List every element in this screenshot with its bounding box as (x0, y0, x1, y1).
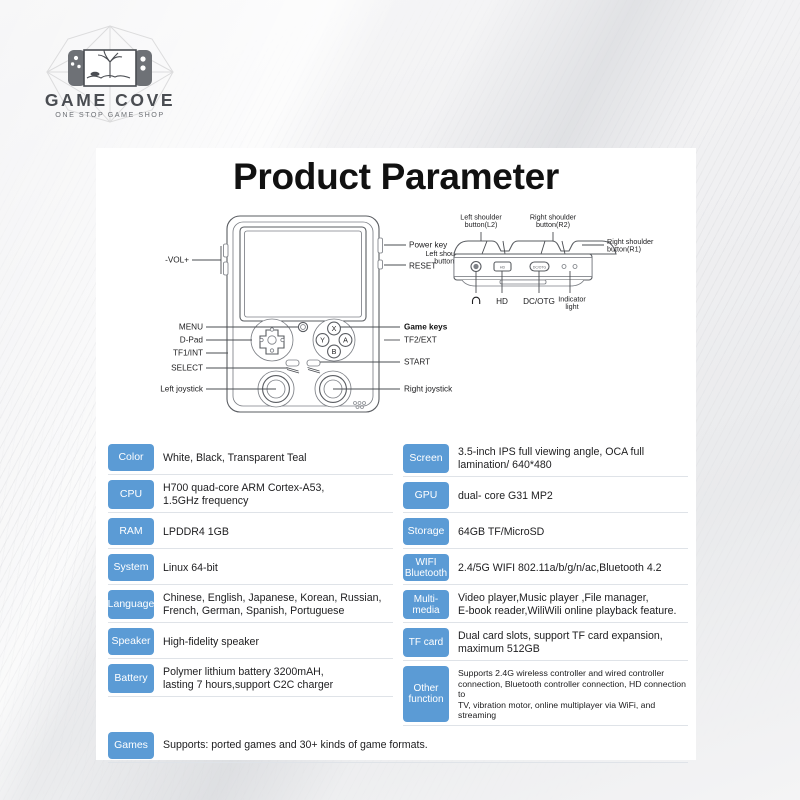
label-dcotg: DC/OTG (523, 297, 555, 306)
spec-value: Supports 2.4G wireless controller and wi… (449, 666, 688, 725)
label-volume: -VOL+ (165, 256, 189, 265)
label-menu: MENU (179, 323, 203, 332)
label-reset: RESET (409, 261, 436, 270)
label-dpad: D-Pad (180, 336, 204, 345)
spec-table: Color White, Black, Transparent Teal CPU… (108, 444, 688, 763)
spec-row: GPU dual- core G31 MP2 (403, 482, 688, 513)
face-button-a: A (343, 336, 348, 345)
label-left-joystick: Left joystick (160, 385, 204, 394)
spec-value: Polymer lithium battery 3200mAH, lasting… (154, 664, 393, 696)
spec-value: 64GB TF/MicroSD (449, 518, 688, 548)
spec-label-chip: CPU (108, 480, 154, 509)
spec-row: RAM LPDDR4 1GB (108, 518, 393, 549)
device-front-view: X Y A B (224, 216, 383, 412)
spec-row: WIFI Bluetooth 2.4/5G WIFI 802.11a/b/g/n… (403, 554, 688, 585)
spec-label-chip: Games (108, 732, 154, 759)
spec-row: Language Chinese, English, Japanese, Kor… (108, 590, 393, 623)
spec-row-games: Games Supports: ported games and 30+ kin… (108, 732, 688, 763)
spec-row: Battery Polymer lithium battery 3200mAH,… (108, 664, 393, 697)
label-l2-line2: button(L2) (465, 220, 498, 229)
port-glyph-dcotg: DC/OTG (533, 266, 547, 270)
spec-column-right: Screen 3.5-inch IPS full viewing angle, … (403, 444, 688, 731)
label-tf2: TF2/EXT (404, 336, 437, 345)
face-button-y: Y (320, 336, 325, 345)
label-hd: HD (496, 297, 508, 306)
label-start: START (404, 358, 430, 367)
spec-value: Video player,Music player ,File manager,… (449, 590, 688, 622)
port-glyph-hd: HD (500, 266, 506, 270)
spec-label-chip: Storage (403, 518, 449, 545)
spec-row: Screen 3.5-inch IPS full viewing angle, … (403, 444, 688, 477)
spec-label-chip: Battery (108, 664, 154, 693)
spec-value: Linux 64-bit (154, 554, 393, 584)
spec-label-chip: Multi- media (403, 590, 449, 619)
brand-logo: GAME COVE ONE STOP GAME SHOP (26, 22, 194, 128)
spec-value: Supports: ported games and 30+ kinds of … (154, 732, 688, 762)
page-title: Product Parameter (96, 156, 696, 198)
spec-value: LPDDR4 1GB (154, 518, 393, 548)
face-button-x: X (332, 324, 337, 333)
spec-label-chip: Screen (403, 444, 449, 473)
logo-brand-text: GAME COVE (45, 90, 175, 110)
spec-row: Color White, Black, Transparent Teal (108, 444, 393, 475)
spec-label-chip: System (108, 554, 154, 581)
spec-value: dual- core G31 MP2 (449, 482, 688, 512)
console-icon (68, 50, 152, 86)
face-button-b: B (332, 347, 337, 356)
spec-label-chip: Color (108, 444, 154, 471)
spec-row: System Linux 64-bit (108, 554, 393, 585)
spec-row: Storage 64GB TF/MicroSD (403, 518, 688, 549)
spec-row: Other function Supports 2.4G wireless co… (403, 666, 688, 726)
label-right-joystick: Right joystick (404, 385, 453, 394)
device-diagram: .ln{stroke:#4a4d52;stroke-width:.9;fill:… (96, 210, 696, 438)
spec-value: 2.4/5G WIFI 802.11a/b/g/n/ac,Bluetooth 4… (449, 554, 688, 584)
spec-label-chip: RAM (108, 518, 154, 545)
product-parameter-card: Product Parameter .ln{stroke:#4a4d52;str… (96, 148, 696, 760)
spec-row: Multi- media Video player,Music player ,… (403, 590, 688, 623)
label-r2-line2: button(R2) (536, 220, 570, 229)
label-r1-line2: button(R1) (607, 245, 641, 254)
spec-value: Chinese, English, Japanese, Korean, Russ… (154, 590, 393, 622)
label-select: SELECT (171, 364, 203, 373)
spec-row: TF card Dual card slots, support TF card… (403, 628, 688, 661)
spec-column-left: Color White, Black, Transparent Teal CPU… (108, 444, 393, 731)
spec-value: 3.5-inch IPS full viewing angle, OCA ful… (449, 444, 688, 476)
spec-row: CPU H700 quad-core ARM Cortex-A53, 1.5GH… (108, 480, 393, 513)
spec-label-chip: Speaker (108, 628, 154, 655)
spec-value: H700 quad-core ARM Cortex-A53, 1.5GHz fr… (154, 480, 393, 512)
spec-label-chip: Language (108, 590, 154, 619)
spec-value: White, Black, Transparent Teal (154, 444, 393, 474)
label-tf1: TF1/INT (173, 349, 203, 358)
spec-label-chip: Other function (403, 666, 449, 722)
spec-label-chip: WIFI Bluetooth (403, 554, 449, 581)
spec-row: Speaker High-fidelity speaker (108, 628, 393, 659)
spec-label-chip: TF card (403, 628, 449, 657)
spec-value: High-fidelity speaker (154, 628, 393, 658)
headphone-jack-icon (473, 297, 480, 304)
label-indicator-line2: light (565, 302, 578, 311)
logo-tagline-text: ONE STOP GAME SHOP (55, 110, 164, 119)
spec-value: Dual card slots, support TF card expansi… (449, 628, 688, 660)
spec-label-chip: GPU (403, 482, 449, 509)
device-top-view: HD DC/OTG (454, 241, 616, 286)
label-game-keys: Game keys (404, 323, 448, 332)
